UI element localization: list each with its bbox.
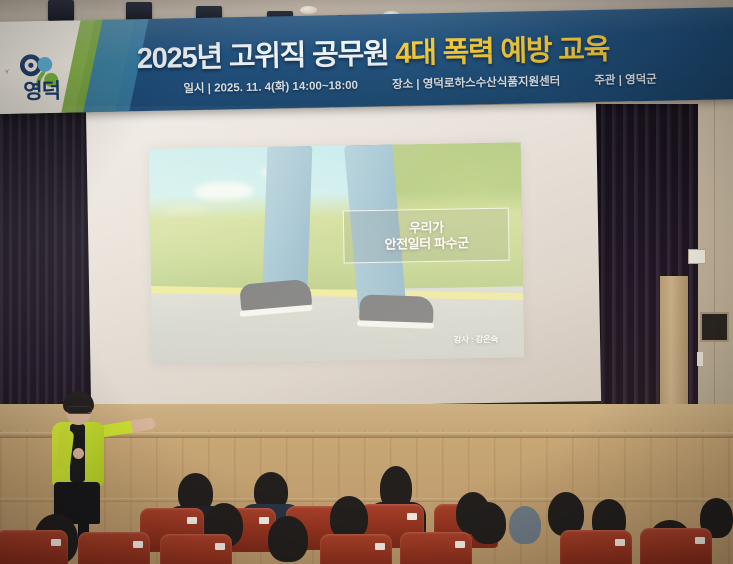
slide-headline-box: 우리가 안전일터 파수군	[343, 207, 510, 263]
presenter-hand	[73, 448, 84, 459]
audience-head	[268, 516, 308, 562]
slide-headline-line1: 우리가	[409, 220, 444, 236]
projection-screen: 우리가 안전일터 파수군 강사 : 강은숙	[86, 103, 601, 412]
presentation-slide: 우리가 안전일터 파수군 강사 : 강은숙	[149, 142, 525, 363]
slide-leg	[263, 142, 313, 293]
slide-instructor-credit: 강사 : 강은숙	[454, 333, 498, 346]
audience-head	[509, 506, 541, 544]
slide-headline-line2: 안전일터 파수군	[384, 235, 468, 251]
wall-door-frame	[660, 276, 688, 422]
wall-sign	[700, 312, 729, 342]
auditorium-seat	[560, 530, 632, 564]
auditorium-seat	[0, 530, 68, 564]
banner-title-white: 2025년 고위직 공무원	[136, 38, 395, 75]
auditorium-seat	[160, 534, 232, 564]
light-switch-icon[interactable]	[697, 352, 703, 366]
auditorium-seat	[320, 534, 392, 564]
banner-place: 장소 | 영덕로하스수산식품지원센터	[392, 76, 561, 91]
audience-head	[456, 492, 490, 534]
logo-name: 영덕	[23, 75, 60, 106]
stage-curtain-left	[0, 104, 92, 434]
banner-date: 일시 | 2025. 11. 4(화) 14:00~18:00	[183, 80, 358, 96]
ceiling-speaker-icon	[300, 6, 317, 14]
glasses-icon	[67, 406, 92, 414]
yeongdeok-logo: Y 영덕	[5, 50, 92, 104]
auditorium-seat	[400, 532, 472, 564]
auditorium-seat	[640, 528, 712, 564]
banner-title-yellow: 4대 폭력 예방 교육	[395, 34, 609, 70]
slide-shoe	[239, 279, 312, 313]
logo-tagline: Y	[5, 70, 9, 76]
wall-panel-seam	[714, 100, 715, 424]
presenter-right-arm	[97, 417, 156, 438]
auditorium-seat	[78, 532, 150, 564]
banner-title: 2025년 고위직 공무원 4대 폭력 예방 교육	[136, 26, 609, 77]
event-banner: Y 영덕 2025년 고위직 공무원 4대 폭력 예방 교육 일시 | 2025…	[0, 7, 733, 114]
lecture-hall-photo: 우리가 안전일터 파수군 강사 : 강은숙 Y 영덕 2025년 고위직 공무원…	[0, 0, 733, 564]
wall-speaker-icon	[688, 249, 706, 264]
banner-host: 주관 | 영덕군	[594, 74, 657, 87]
ceiling-light-icon	[48, 0, 74, 21]
slide-shoe	[359, 294, 434, 325]
